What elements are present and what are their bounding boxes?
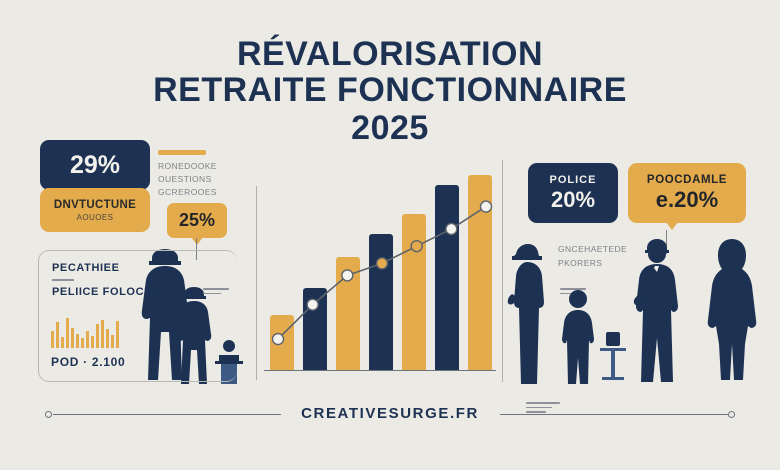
badge-secondary: POOCDAMLE e.20% bbox=[628, 163, 746, 223]
woman-silhouette bbox=[706, 236, 758, 384]
trend-marker bbox=[446, 223, 457, 234]
stat-badge-caption-main: DNVTUCTUNE bbox=[54, 199, 136, 211]
divider-left bbox=[256, 186, 257, 380]
businessman-silhouette bbox=[631, 238, 683, 384]
trend-marker bbox=[411, 241, 422, 252]
badge-police-label: POLICE bbox=[550, 174, 597, 186]
sparkline-bar bbox=[76, 334, 79, 348]
trend-marker bbox=[481, 201, 492, 212]
left-blurb: RONEDOOKE OUESTIONS GCREROOES bbox=[158, 160, 253, 200]
callout-bubble-left: 25% bbox=[167, 203, 227, 238]
sparkline-bar bbox=[91, 336, 94, 348]
sparkline-bar bbox=[81, 338, 84, 348]
stat-badge-caption: DNVTUCTUNE AOUOES bbox=[40, 188, 150, 232]
trend-marker bbox=[273, 334, 284, 345]
line-series-overlay bbox=[258, 150, 502, 380]
sparkline-bar bbox=[106, 329, 109, 348]
trend-marker bbox=[377, 258, 388, 269]
officer-profile-silhouette bbox=[506, 240, 552, 384]
sparkline-bar bbox=[61, 337, 64, 348]
badge-police: POLICE 20% bbox=[528, 163, 618, 223]
footer-rule-right bbox=[500, 414, 728, 415]
page-title: RÉVALORISATION RETRAITE FONCTIONNAIRE 20… bbox=[0, 36, 780, 146]
infographic-canvas: RÉVALORISATION RETRAITE FONCTIONNAIRE 20… bbox=[0, 0, 780, 470]
title-line-2: RETRAITE FONCTIONNAIRE bbox=[0, 72, 780, 108]
badge-secondary-value: e.20% bbox=[656, 187, 718, 213]
badge-secondary-label: POOCDAMLE bbox=[647, 174, 727, 186]
footer: CREATIVESURGE.FR bbox=[0, 400, 780, 428]
chart-axis bbox=[264, 370, 496, 372]
sparkline-bar bbox=[96, 324, 99, 348]
main-chart bbox=[258, 150, 502, 380]
stat-badge-primary: 29% bbox=[40, 140, 150, 190]
stat-badge-primary-value: 29% bbox=[70, 151, 120, 180]
callout-bubble-left-value: 25% bbox=[179, 210, 215, 231]
info-card-subtitle: PELIICE FOLOCRE bbox=[52, 286, 161, 300]
sparkline-bar bbox=[66, 318, 69, 348]
short-figure-silhouette bbox=[558, 288, 598, 384]
trend-marker bbox=[307, 299, 318, 310]
info-card-footnote: POD · 2.100 bbox=[51, 355, 125, 369]
sparkline-bar bbox=[101, 320, 104, 348]
badge-police-value: 20% bbox=[551, 187, 595, 213]
sparkline-bar bbox=[116, 321, 119, 348]
info-card-separator bbox=[52, 279, 74, 281]
trend-marker bbox=[342, 270, 353, 281]
sparkline-chart bbox=[51, 318, 123, 348]
stat-badge-caption-sub: AOUOES bbox=[77, 213, 114, 222]
sparkline-bar bbox=[111, 335, 114, 348]
callout-tail-icon bbox=[666, 222, 678, 230]
sparkline-bar bbox=[51, 331, 54, 348]
sparkline-bar bbox=[71, 328, 74, 348]
sparkline-bar bbox=[56, 322, 59, 348]
divider-right bbox=[502, 160, 503, 382]
footer-dot-icon bbox=[728, 411, 735, 418]
pedestal-table-icon bbox=[597, 330, 629, 384]
info-card-title: PECATHIEE bbox=[52, 262, 120, 274]
sparkline-bar bbox=[86, 331, 89, 348]
title-line-1: RÉVALORISATION bbox=[0, 36, 780, 72]
accent-rule bbox=[158, 150, 206, 155]
